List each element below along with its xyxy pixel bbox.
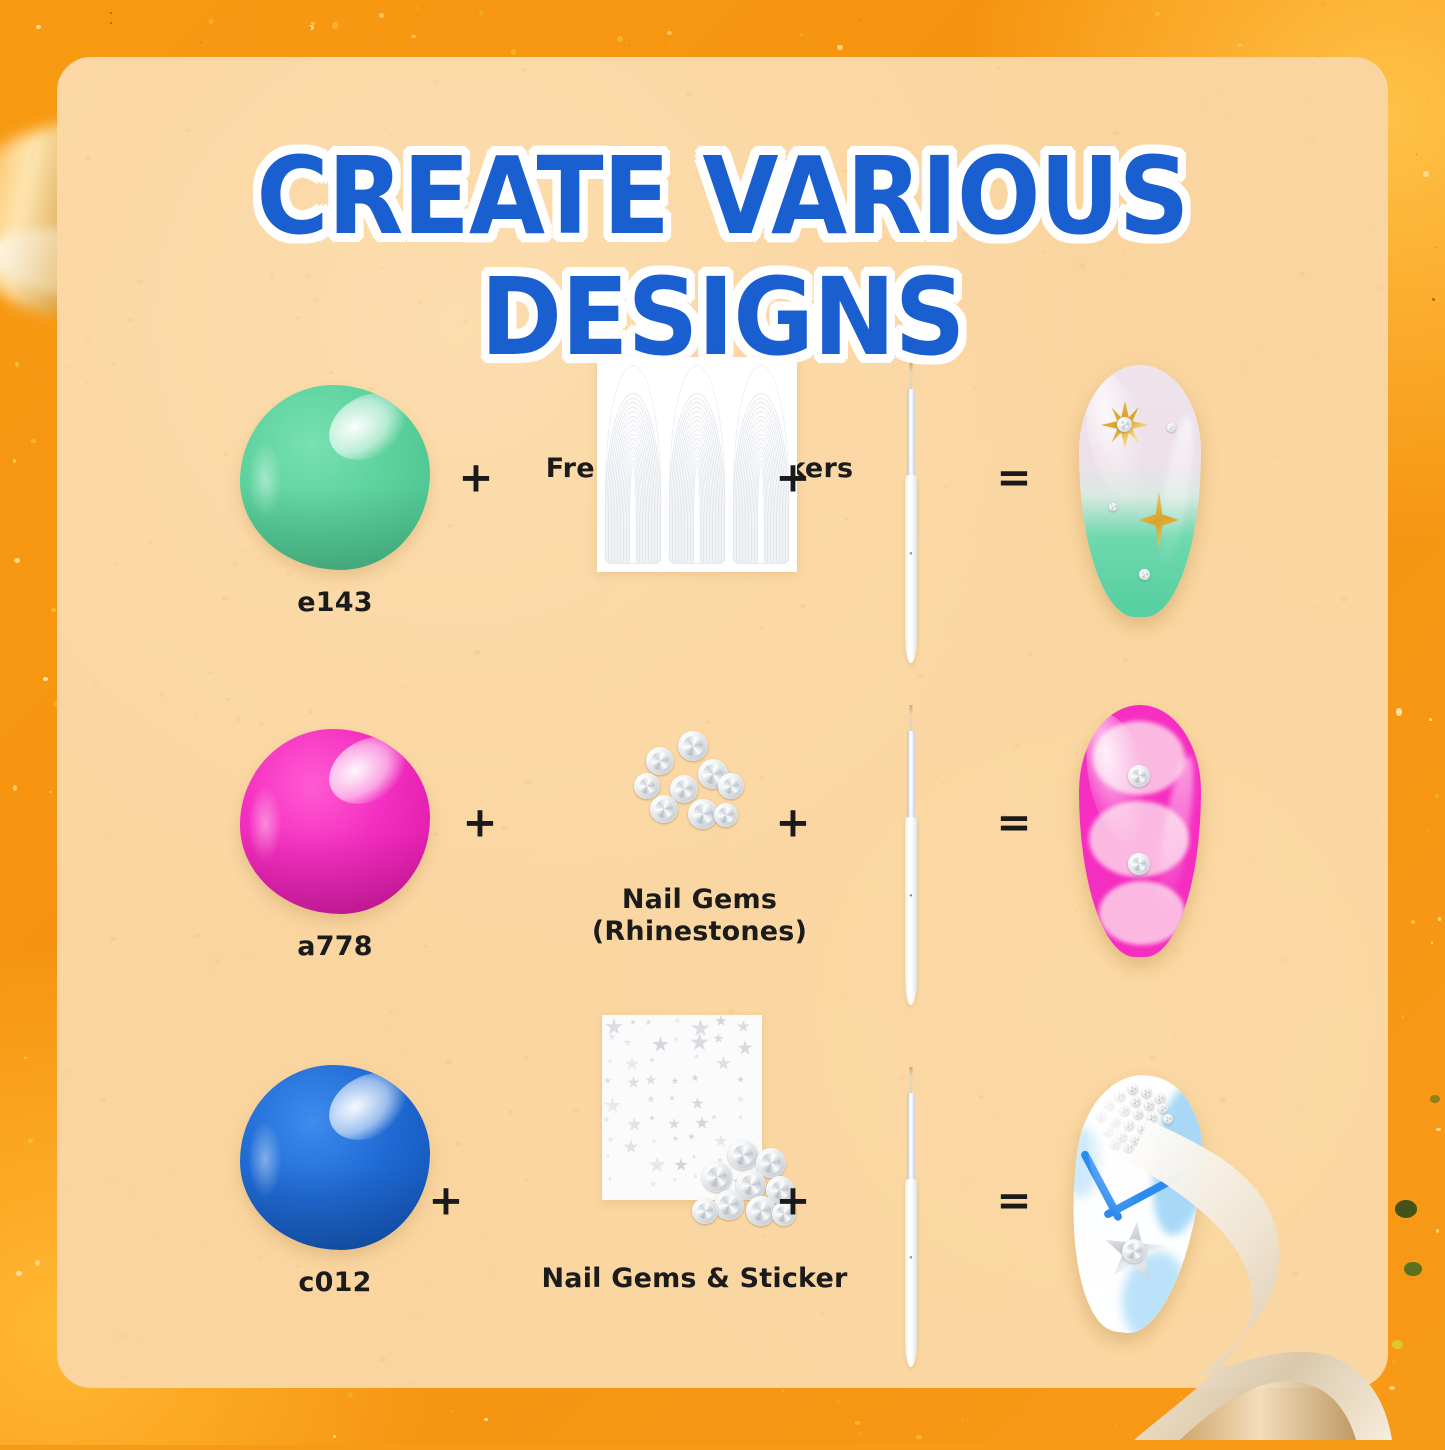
rhinestone [714,1190,744,1220]
star-sticker-icon [607,1058,613,1064]
star-sticker-icon [603,1116,610,1123]
rhinestone [714,803,738,827]
star-sticker-icon [691,1074,699,1082]
nail-gem-bottom [1128,853,1150,875]
star-sticker-icon [715,1015,727,1027]
equals-operator-1: = [996,453,1031,502]
polish-label-2: a778 [215,931,455,963]
pink-gel-polish-swatch [240,729,430,914]
polish-cell-2: a778 [215,729,455,963]
rhinestone [718,773,744,799]
star-sticker-icon [623,1139,639,1155]
design-row-2: a778 + Nail Gems (Rhinestones) + ● = [57,677,1388,1007]
accessory-cell-2: Nail Gems (Rhinestones) [487,729,912,949]
equals-operator-2: = [996,798,1031,847]
star-sticker-icon [649,1115,655,1121]
star-sticker-icon [695,1116,709,1130]
polish-label-1: e143 [215,587,455,619]
nail-liner-brush-3: ● [902,1067,920,1367]
brush-logo-icon: ● [909,893,913,899]
star-sticker-icon [608,1177,612,1181]
star-sticker-icon [713,1033,724,1044]
star-sticker-icon [604,1077,611,1084]
nail-gems-rhinestones-cluster [632,729,762,849]
rhinestone [702,1162,732,1192]
polish-cell-1: e143 [215,385,455,619]
nail-gem-top [1128,765,1150,787]
star-sticker-icon [630,1019,636,1025]
polish-cell-3: c012 [215,1065,455,1299]
star-sticker-icon [607,1136,614,1143]
rhinestone [728,1140,758,1170]
orange-background: CREATE VARIOUS DESIGNS e143 + [0,0,1445,1445]
green-gel-polish-swatch [240,385,430,570]
rhinestone [634,773,660,799]
star-sticker-icon [649,1057,655,1063]
french-nail-stickers-sheet [597,357,797,572]
accessory-cell-1: French Nail Stickers [487,357,912,485]
star-sticker-icon [690,1033,709,1052]
star-center-gem [1117,417,1132,432]
polish-label-3: c012 [215,1267,455,1299]
star-sticker-icon [674,1017,681,1024]
plus-operator-3a: + [428,1176,463,1225]
star-sticker-icon [605,1018,623,1036]
star-sticker-icon [651,1138,657,1144]
star-sticker-icon [627,1117,642,1132]
star-sticker-icon [627,1076,640,1089]
accent-gem-2 [1109,503,1117,511]
nail-art-result-green [1079,365,1201,617]
accent-gem-3 [1139,569,1150,580]
accent-gem-1 [1167,423,1176,432]
page-title-line-1: CREATE VARIOUS [110,145,1335,250]
star-sticker-icon [649,1180,657,1188]
star-sticker-icon [716,1056,731,1071]
brush-logo-icon: ● [909,551,913,557]
accessory-cell-3: Nail Gems & Sticker [477,1015,912,1295]
rhinestone [1144,1099,1155,1110]
star-sticker-icon [645,1019,652,1026]
star-sticker-icon [645,1074,657,1086]
star-sticker-icon [711,1114,717,1120]
star-sticker-icon [604,1097,621,1114]
star-sticker-icon [652,1036,669,1053]
rhinestone [692,1198,718,1224]
nail-liner-brush-1: ● [902,363,920,663]
blue-gel-polish-swatch [240,1065,430,1250]
rhinestone [1141,1087,1152,1098]
nail-art-result-pink [1079,705,1201,957]
plus-operator-1b: + [775,453,810,502]
star-sticker-icon [673,1036,679,1042]
design-row-1: e143 + French Nail Stickers + ● = [57,345,1388,675]
star-sticker-icon [737,1020,750,1033]
rhinestone [678,731,708,761]
star-sticker-icon [674,1158,688,1172]
star-sticker-icon [672,1135,679,1142]
rhinestone [646,747,674,775]
star-sticker-icon [736,1095,745,1104]
star-sticker-icon [625,1057,639,1071]
star-sticker-icon [668,1118,680,1130]
rhinestone [1155,1093,1166,1104]
brush-logo-icon: ● [909,1255,913,1261]
accessory-label-3: Nail Gems & Sticker [477,1263,912,1295]
page-title: CREATE VARIOUS DESIGNS [57,145,1388,371]
star-sticker-icon [691,1097,704,1110]
equals-operator-3: = [996,1176,1031,1225]
nail-liner-brush-2: ● [902,705,920,1005]
plus-operator-2b: + [775,798,810,847]
star-sticker-icon [737,1040,753,1056]
star-sticker-icon [691,1019,710,1038]
star-sticker-icon [671,1077,679,1085]
gold-ribbon-bottom-right [1120,1110,1445,1450]
star-sticker-icon [688,1133,695,1140]
star-sticker-icon [606,1154,610,1158]
star-sticker-icon [608,1033,616,1041]
star-sticker-icon [672,1177,677,1182]
accessory-label-2: Nail Gems (Rhinestones) [487,884,912,949]
star-sticker-icon [669,1095,675,1101]
rhinestone [650,795,678,823]
star-sticker-icon [648,1156,666,1174]
star-sticker-icon [737,1076,744,1083]
plus-operator-3b: + [775,1176,810,1225]
star-sticker-icon [623,1038,632,1047]
star-sticker-icon [738,1115,743,1120]
star-sticker-icon [647,1095,655,1103]
star-sticker-icon [694,1054,699,1059]
